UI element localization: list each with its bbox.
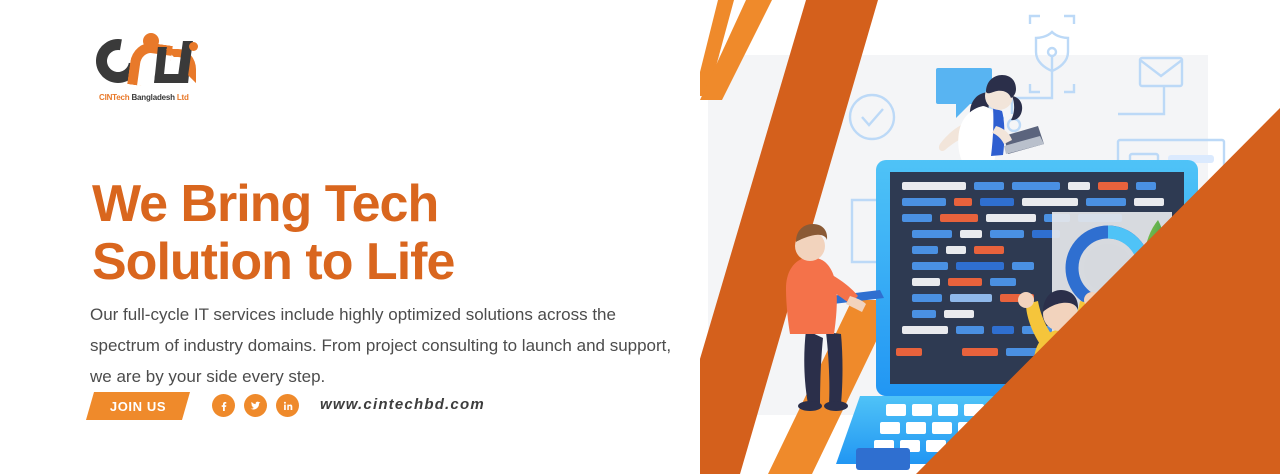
twitter-icon[interactable]	[244, 394, 267, 417]
cintech-logo-icon	[96, 33, 206, 91]
hero-illustration	[700, 0, 1280, 474]
social-links	[212, 394, 299, 417]
company-logo[interactable]: CINTech Bangladesh Ltd	[96, 33, 206, 113]
headline-line-2: Solution to Life	[92, 233, 652, 291]
hero-description: Our full-cycle IT services include highl…	[90, 299, 675, 392]
logo-word-cintech: CINTech	[99, 93, 131, 102]
logo-ball-dot	[143, 33, 159, 49]
join-us-label[interactable]: JOIN US	[90, 392, 186, 420]
left-content-panel: CINTech Bangladesh Ltd We Bring TechSolu…	[0, 0, 700, 474]
promo-banner: CINTech Bangladesh Ltd We Bring TechSolu…	[0, 0, 1280, 474]
logo-accent-dot	[189, 42, 198, 51]
logo-word-ltd: Ltd	[177, 93, 189, 102]
facebook-icon[interactable]	[212, 394, 235, 417]
headline-line-1: We Bring Tech	[92, 175, 438, 233]
logo-word-bangladesh: Bangladesh	[131, 93, 176, 102]
illustration-artwork	[700, 0, 1280, 474]
laptop-trackpad	[856, 448, 910, 470]
linkedin-icon[interactable]	[276, 394, 299, 417]
website-url[interactable]: www.cintechbd.com	[320, 396, 485, 413]
logo-wordmark: CINTech Bangladesh Ltd	[99, 93, 189, 102]
page-title: We Bring TechSolution to Life	[92, 175, 652, 291]
